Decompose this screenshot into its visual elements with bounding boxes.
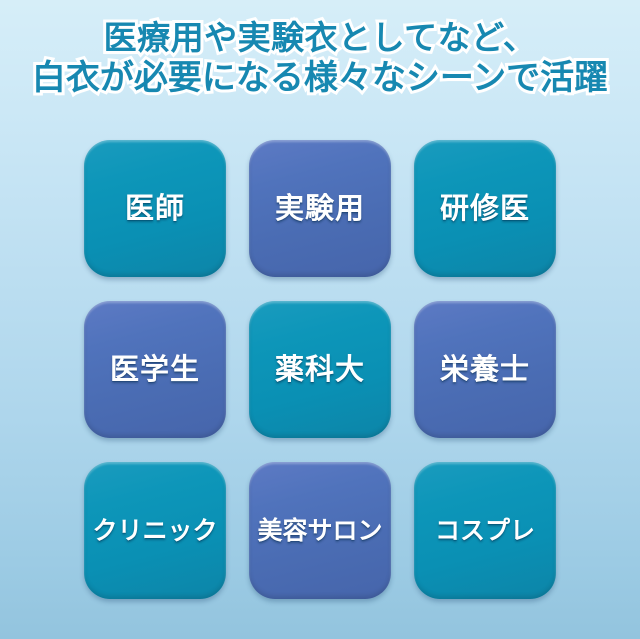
headline-line-1: 医療用や実験衣としてなど、 <box>0 19 640 58</box>
use-case-tile[interactable]: 実験用 <box>249 140 391 277</box>
use-case-tile-label: 医師 <box>125 194 185 223</box>
use-case-tile[interactable]: コスプレ <box>414 462 556 599</box>
use-case-tile-label: 医学生 <box>110 355 200 384</box>
page-title: 医療用や実験衣としてなど、 白衣が必要になる様々なシーンで活躍 <box>0 19 640 98</box>
use-case-tile-label: 薬科大 <box>275 355 365 384</box>
use-case-tile[interactable]: クリニック <box>84 462 226 599</box>
use-case-tile-label: 実験用 <box>275 194 365 223</box>
use-case-tile-label: 研修医 <box>440 194 530 223</box>
use-case-tile-grid: 医師実験用研修医医学生薬科大栄養士クリニック美容サロンコスプレ <box>84 140 556 599</box>
headline-line-2: 白衣が必要になる様々なシーンで活躍 <box>0 58 640 98</box>
use-case-tile-label: 美容サロン <box>257 518 382 543</box>
use-case-tile-label: クリニック <box>92 518 217 543</box>
use-case-tile[interactable]: 栄養士 <box>414 301 556 438</box>
use-case-tile[interactable]: 医師 <box>84 140 226 277</box>
use-case-tile-label: 栄養士 <box>440 355 530 384</box>
use-case-tile[interactable]: 研修医 <box>414 140 556 277</box>
use-case-tile[interactable]: 美容サロン <box>249 462 391 599</box>
use-case-tile-label: コスプレ <box>435 518 535 543</box>
promo-banner: 医療用や実験衣としてなど、 白衣が必要になる様々なシーンで活躍 医師実験用研修医… <box>0 0 640 639</box>
use-case-tile[interactable]: 薬科大 <box>249 301 391 438</box>
use-case-tile[interactable]: 医学生 <box>84 301 226 438</box>
